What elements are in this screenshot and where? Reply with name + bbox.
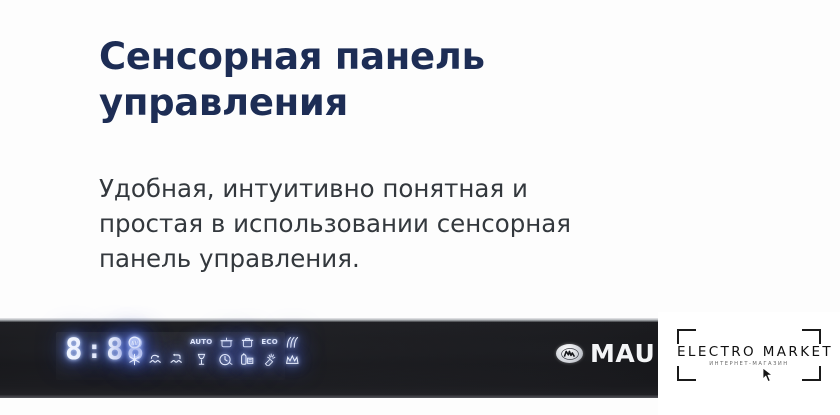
pot-icon	[220, 336, 233, 349]
indicator-column[interactable]	[285, 336, 300, 366]
watermark-subtitle: ИНТЕРНЕТ-МАГАЗИН	[677, 362, 821, 367]
frame-corner-bottom-right	[802, 366, 821, 381]
rinse-waves-icon	[285, 336, 300, 349]
indicator-column[interactable]	[128, 336, 141, 366]
mouse-pointer-icon	[762, 367, 774, 389]
indicator-column[interactable]: AUTO	[190, 336, 212, 366]
programs-indicator-cluster: AUTO	[190, 336, 300, 366]
wine-glass-icon	[195, 353, 208, 366]
indicator-column[interactable]	[240, 336, 254, 366]
display-digit-1: 8	[65, 335, 83, 364]
basket-icon	[241, 336, 254, 349]
half-load-hand-icon	[128, 336, 141, 349]
icon-spacer	[149, 336, 162, 349]
promo-headline: Сенсорная панель управления	[99, 34, 554, 127]
maunfeld-m-emblem-icon	[556, 344, 583, 363]
auto-text-icon: AUTO	[190, 336, 212, 349]
crown-waves-icon	[285, 353, 300, 366]
brand-mark: MAU	[556, 341, 655, 366]
promo-text-block: Сенсорная панель управления Удобная, инт…	[99, 34, 659, 276]
indicator-column[interactable]	[169, 336, 183, 366]
indicator-column[interactable]	[148, 336, 162, 366]
snowflake-icon	[128, 353, 141, 366]
indicator-column[interactable]	[219, 336, 233, 366]
watermark-frame: ELECTRO MARKET ИНТЕРНЕТ-МАГАЗИН	[677, 329, 821, 381]
brand-name: MAU	[590, 341, 655, 366]
water-tap-icon	[148, 353, 162, 366]
intensive-spray-icon	[263, 353, 277, 366]
display-colon: :	[85, 337, 104, 363]
watermark-overlay: ELECTRO MARKET ИНТЕРНЕТ-МАГАЗИН	[658, 312, 840, 415]
icon-spacer	[170, 336, 183, 349]
baby-bottle-icon	[240, 353, 254, 366]
promo-subtext: Удобная, интуитивно понятная и простая в…	[99, 127, 619, 277]
watermark-title: ELECTRO MARKET	[677, 346, 821, 360]
eco-text-icon: ECO	[261, 336, 277, 349]
indicator-column[interactable]: ECO	[261, 336, 277, 366]
promo-slide: Сенсорная панель управления Удобная, инт…	[0, 0, 840, 415]
frame-corner-top-right	[802, 329, 821, 344]
options-indicator-cluster	[128, 336, 183, 366]
frame-corner-bottom-left	[677, 366, 696, 381]
water-drain-icon	[169, 353, 183, 366]
frame-corner-top-left	[677, 329, 696, 344]
display-digit-2: 8	[106, 335, 124, 364]
delay-timer-clock-icon	[219, 353, 233, 366]
